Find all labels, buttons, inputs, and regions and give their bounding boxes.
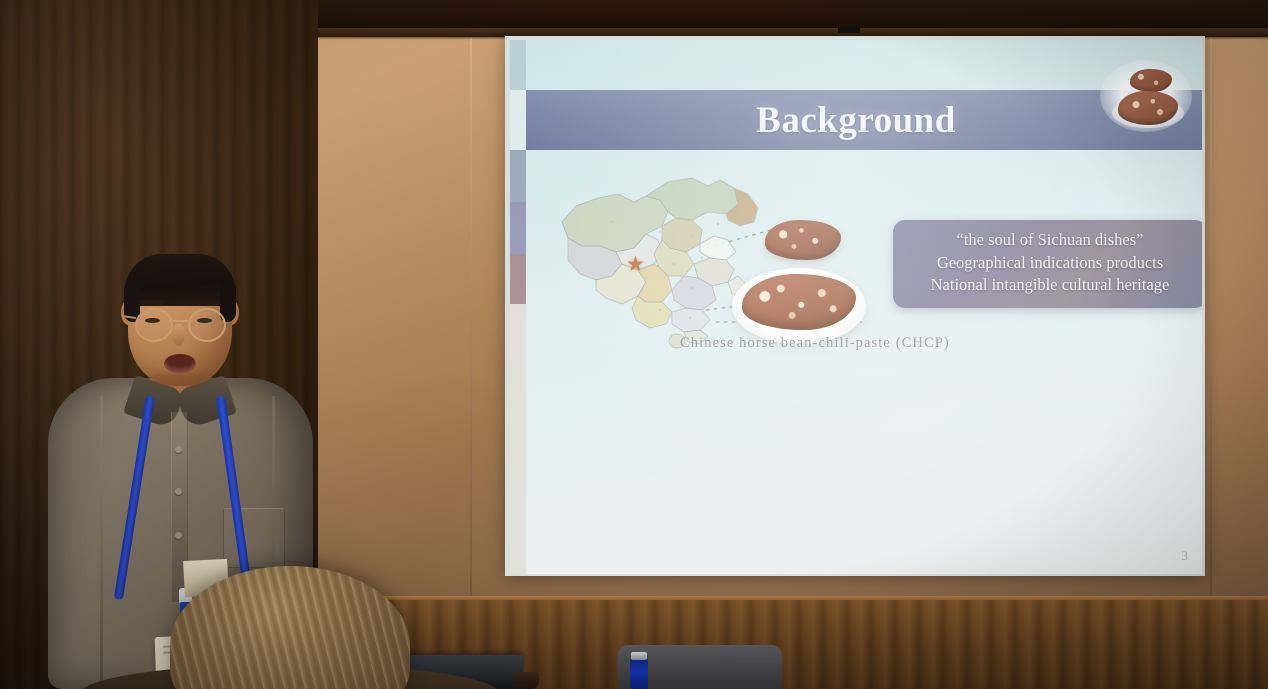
edge-segment — [510, 40, 526, 90]
callout-line-3: National intangible cultural heritage — [903, 274, 1197, 297]
screen-mount-bracket — [838, 27, 860, 33]
edge-segment — [510, 150, 526, 202]
lecture-room-photo: Background — [0, 0, 1268, 689]
chili-paste-sample — [765, 220, 841, 260]
presenter-mouth — [164, 354, 196, 373]
wall-seam — [470, 36, 472, 636]
water-bottle — [630, 658, 648, 689]
presenter-eyebrow-left — [139, 300, 165, 305]
shirt-button — [175, 532, 182, 539]
edge-segment — [510, 304, 526, 574]
wall-seam — [1210, 36, 1212, 636]
shirt-button — [175, 446, 182, 453]
presenter-chin-shadow — [148, 372, 214, 388]
callout-line-2: Geographical indications products — [903, 252, 1197, 275]
page-title: Background — [510, 90, 1202, 150]
chili-paste-mound — [742, 274, 856, 330]
key-points-callout: “the soul of Sichuan dishes” Geographica… — [893, 220, 1202, 308]
eyeglasses-lens-left — [135, 308, 173, 342]
slide-number: 3 — [1182, 548, 1189, 564]
eyeglasses-bridge — [169, 320, 188, 322]
presenter-nose — [172, 324, 185, 346]
chili-paste-plate — [732, 268, 866, 344]
shirt-fold — [100, 396, 103, 686]
presenter-eyebrow-right — [192, 300, 218, 305]
logo-paste-large — [1118, 91, 1178, 125]
figure-caption: Chinese horse bean-chili-paste (CHCP) — [680, 335, 1010, 352]
water-bottle-cap — [631, 652, 647, 660]
presenter-hair — [125, 254, 235, 306]
presentation-slide: Background — [510, 40, 1202, 574]
ceiling-beam — [318, 0, 1268, 30]
cup — [513, 672, 539, 689]
edge-segment — [510, 202, 526, 254]
eyeglasses-lens-right — [188, 308, 226, 342]
chili-paste-logo — [1100, 60, 1192, 132]
edge-segment — [510, 254, 526, 304]
shirt-button — [175, 488, 182, 495]
logo-paste-small — [1130, 69, 1172, 92]
callout-line-1: “the soul of Sichuan dishes” — [903, 229, 1197, 252]
